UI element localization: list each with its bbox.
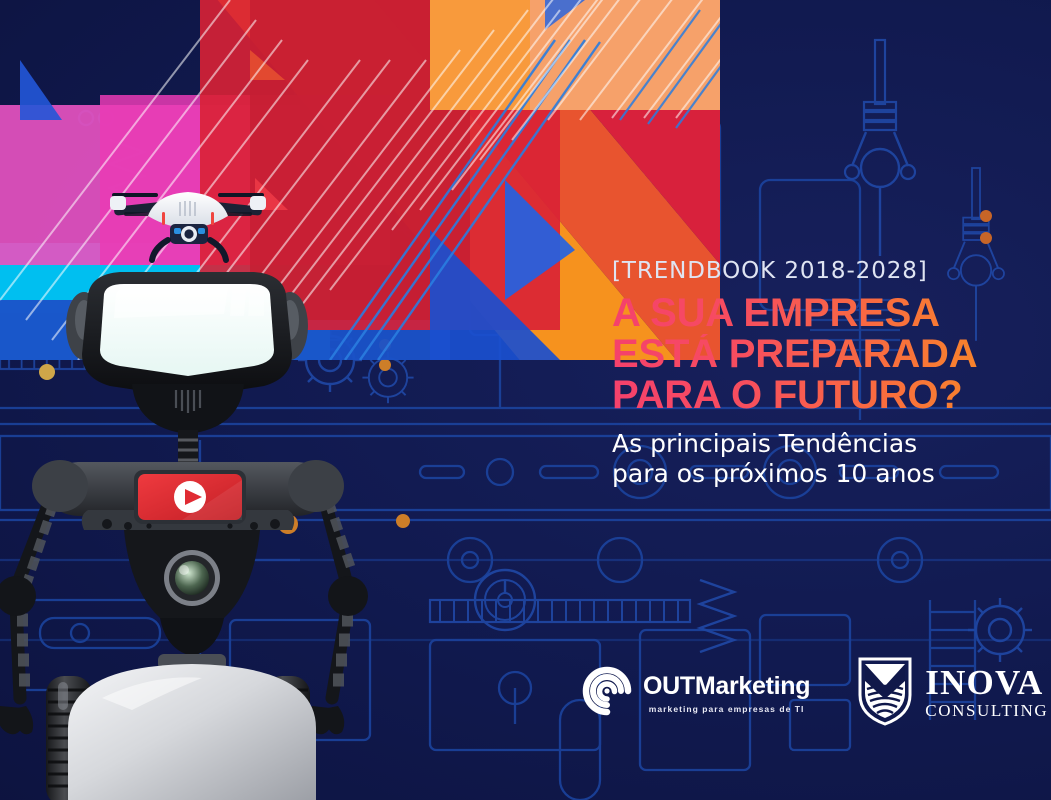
outmarketing-logo[interactable]: OUTMarketing marketing para empresas de … (580, 664, 810, 723)
headline-line-1: A SUA EMPRESA (612, 293, 1032, 334)
eyebrow-label: [TRENDBOOK 2018-2028] (612, 258, 1032, 284)
robot-arm-right (308, 490, 368, 734)
inova-subtitle: CONSULTING (925, 701, 1048, 721)
robot-camera-lens (164, 550, 220, 606)
robot-body-dome (68, 664, 316, 800)
outmarketing-wordmark: OUTMarketing marketing para empresas de … (643, 674, 810, 714)
inova-logo[interactable]: INOVA CONSULTING (856, 655, 1048, 732)
headline-line-3: PARA O FUTURO? (612, 375, 1032, 416)
robot-torso (32, 460, 344, 670)
hero-text-panel: [TRENDBOOK 2018-2028] A SUA EMPRESA ESTÁ… (612, 258, 1032, 490)
robot-illustration (0, 258, 412, 800)
subheadline: As principais Tendências para os próximo… (612, 429, 1032, 490)
logo-row: OUTMarketing marketing para empresas de … (580, 655, 1048, 732)
inova-wordmark: INOVA CONSULTING (925, 666, 1048, 720)
ebook-cover: [TRENDBOOK 2018-2028] A SUA EMPRESA ESTÁ… (0, 0, 1051, 800)
outmarketing-tagline: marketing para empresas de TI (643, 704, 810, 714)
headline: A SUA EMPRESA ESTÁ PREPARADA PARA O FUTU… (612, 293, 1032, 417)
headline-line-2: ESTÁ PREPARADA (612, 334, 1032, 375)
shield-crest-icon (856, 655, 914, 732)
spiral-swirl-icon (580, 664, 634, 723)
robot-chest-play-panel (134, 470, 246, 524)
subheadline-line-2: para os próximos 10 anos (612, 459, 1032, 490)
outmarketing-name-bold: OUT (643, 672, 695, 700)
outmarketing-name-rest: Marketing (695, 672, 810, 700)
subheadline-line-1: As principais Tendências (612, 429, 1032, 460)
robot-head (66, 272, 308, 434)
inova-name: INOVA (925, 666, 1048, 699)
